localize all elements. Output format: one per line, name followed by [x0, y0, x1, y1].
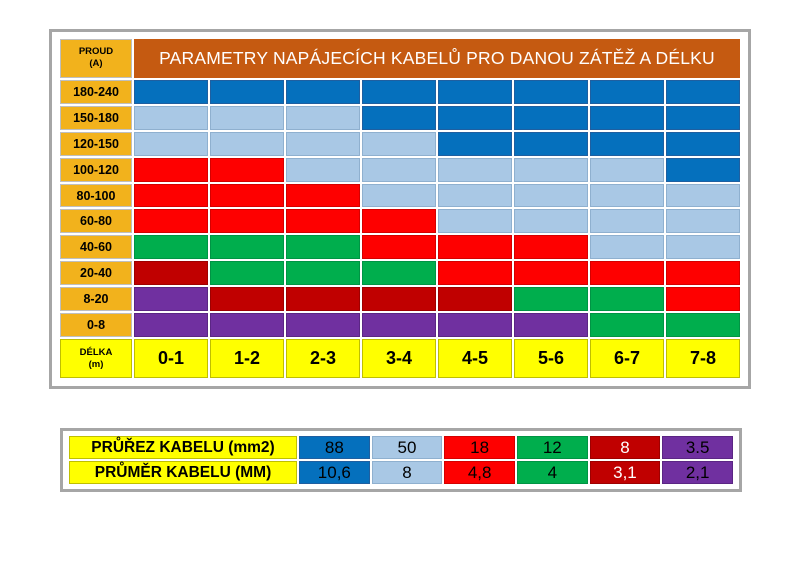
heatmap-cell	[590, 209, 664, 233]
heatmap-cell	[590, 287, 664, 311]
heatmap-cell	[666, 106, 740, 130]
table-row: 60-80	[60, 209, 740, 233]
heatmap-cell	[362, 106, 436, 130]
heatmap-cell	[666, 158, 740, 182]
legend-value-cell: 8	[590, 436, 661, 459]
heatmap-cell	[590, 235, 664, 259]
heatmap-cell	[666, 235, 740, 259]
current-range-label: 150-180	[60, 106, 132, 130]
length-header-cell: DÉLKA(m)	[60, 339, 132, 378]
heatmap-cell	[286, 106, 360, 130]
current-range-label: 60-80	[60, 209, 132, 233]
heatmap-cell	[134, 261, 208, 285]
heatmap-cell	[362, 184, 436, 208]
length-range-label: 0-1	[134, 339, 208, 378]
heatmap-cell	[210, 313, 284, 337]
heatmap-cell	[134, 184, 208, 208]
heatmap-cell	[438, 209, 512, 233]
heatmap-cell	[362, 235, 436, 259]
legend-row: PRŮMĚR KABELU (MM)10,684,843,12,1	[69, 461, 733, 484]
current-range-label: 0-8	[60, 313, 132, 337]
heatmap-cell	[514, 184, 588, 208]
heatmap-cell	[362, 261, 436, 285]
heatmap-cell	[210, 235, 284, 259]
cable-size-legend: PRŮŘEZ KABELU (mm2)8850181283.5PRŮMĚR KA…	[60, 428, 742, 492]
page-title: PARAMETRY NAPÁJECÍCH KABELŮ PRO DANOU ZÁ…	[134, 39, 740, 78]
table-row: 20-40	[60, 261, 740, 285]
legend-value-cell: 88	[299, 436, 370, 459]
heatmap-cell	[590, 158, 664, 182]
heatmap-cell	[590, 261, 664, 285]
heatmap-cell	[210, 184, 284, 208]
length-range-label: 5-6	[514, 339, 588, 378]
heatmap-cell	[286, 184, 360, 208]
table-row: 80-100	[60, 184, 740, 208]
heatmap-cell	[590, 184, 664, 208]
legend-value-cell: 3,1	[590, 461, 661, 484]
heatmap-cell	[666, 261, 740, 285]
heatmap-cell	[514, 313, 588, 337]
heatmap-cell	[438, 287, 512, 311]
heatmap-cell	[286, 261, 360, 285]
heatmap-cell	[590, 106, 664, 130]
legend-row-label: PRŮMĚR KABELU (MM)	[69, 461, 297, 484]
table-footer-row: DÉLKA(m)0-11-22-33-44-55-66-77-8	[60, 339, 740, 378]
length-range-label: 1-2	[210, 339, 284, 378]
table-row: 8-20	[60, 287, 740, 311]
heatmap-cell	[134, 158, 208, 182]
heatmap-cell	[286, 235, 360, 259]
heatmap-cell	[286, 287, 360, 311]
table-row: 150-180	[60, 106, 740, 130]
cable-parameters-chart: PROUD (A) PARAMETRY NAPÁJECÍCH KABELŮ PR…	[49, 29, 751, 389]
current-range-label: 80-100	[60, 184, 132, 208]
heatmap-cell	[666, 184, 740, 208]
current-range-label: 180-240	[60, 80, 132, 104]
legend-body: PRŮŘEZ KABELU (mm2)8850181283.5PRŮMĚR KA…	[69, 436, 733, 484]
heatmap-cell	[514, 158, 588, 182]
heatmap-cell	[438, 106, 512, 130]
heatmap-cell	[286, 313, 360, 337]
cable-parameters-table: PROUD (A) PARAMETRY NAPÁJECÍCH KABELŮ PR…	[58, 37, 742, 380]
length-range-label: 3-4	[362, 339, 436, 378]
heatmap-cell	[362, 132, 436, 156]
heatmap-cell	[590, 132, 664, 156]
heatmap-cell	[210, 106, 284, 130]
table-header-row: PROUD (A) PARAMETRY NAPÁJECÍCH KABELŮ PR…	[60, 39, 740, 78]
table-row: 180-240	[60, 80, 740, 104]
heatmap-cell	[590, 313, 664, 337]
heatmap-cell	[666, 313, 740, 337]
legend-value-cell: 18	[444, 436, 515, 459]
heatmap-cell	[514, 80, 588, 104]
current-range-label: 120-150	[60, 132, 132, 156]
heatmap-cell	[134, 287, 208, 311]
heatmap-cell	[134, 106, 208, 130]
current-header-unit: (A)	[61, 58, 131, 70]
heatmap-cell	[134, 235, 208, 259]
legend-value-cell: 4,8	[444, 461, 515, 484]
current-range-label: 40-60	[60, 235, 132, 259]
current-range-label: 20-40	[60, 261, 132, 285]
heatmap-cell	[362, 158, 436, 182]
table-row: 0-8	[60, 313, 740, 337]
legend-row: PRŮŘEZ KABELU (mm2)8850181283.5	[69, 436, 733, 459]
heatmap-cell	[362, 209, 436, 233]
heatmap-cell	[666, 209, 740, 233]
legend-value-cell: 3.5	[662, 436, 733, 459]
heatmap-cell	[514, 106, 588, 130]
heatmap-cell	[438, 158, 512, 182]
heatmap-cell	[210, 80, 284, 104]
heatmap-cell	[590, 80, 664, 104]
legend-value-cell: 50	[372, 436, 443, 459]
table-row: 120-150	[60, 132, 740, 156]
heatmap-cell	[514, 132, 588, 156]
length-range-label: 4-5	[438, 339, 512, 378]
heatmap-cell	[286, 132, 360, 156]
heatmap-cell	[134, 80, 208, 104]
heatmap-cell	[286, 209, 360, 233]
length-range-label: 2-3	[286, 339, 360, 378]
table-row: 40-60	[60, 235, 740, 259]
heatmap-cell	[514, 261, 588, 285]
table-body: PROUD (A) PARAMETRY NAPÁJECÍCH KABELŮ PR…	[60, 39, 740, 378]
current-header-cell: PROUD (A)	[60, 39, 132, 78]
heatmap-cell	[362, 287, 436, 311]
heatmap-cell	[666, 80, 740, 104]
heatmap-cell	[514, 287, 588, 311]
current-header-label: PROUD	[61, 46, 131, 58]
heatmap-cell	[134, 313, 208, 337]
heatmap-cell	[666, 287, 740, 311]
heatmap-cell	[362, 80, 436, 104]
heatmap-cell	[438, 132, 512, 156]
legend-row-label: PRŮŘEZ KABELU (mm2)	[69, 436, 297, 459]
heatmap-cell	[134, 209, 208, 233]
heatmap-cell	[134, 132, 208, 156]
heatmap-cell	[286, 80, 360, 104]
heatmap-cell	[438, 235, 512, 259]
heatmap-cell	[286, 158, 360, 182]
length-range-label: 7-8	[666, 339, 740, 378]
length-header-unit: (m)	[61, 359, 131, 371]
heatmap-cell	[666, 132, 740, 156]
heatmap-cell	[210, 261, 284, 285]
heatmap-cell	[210, 287, 284, 311]
heatmap-cell	[438, 80, 512, 104]
length-range-label: 6-7	[590, 339, 664, 378]
heatmap-cell	[210, 209, 284, 233]
table-row: 100-120	[60, 158, 740, 182]
heatmap-cell	[514, 209, 588, 233]
current-range-label: 8-20	[60, 287, 132, 311]
legend-value-cell: 8	[372, 461, 443, 484]
current-range-label: 100-120	[60, 158, 132, 182]
heatmap-cell	[210, 158, 284, 182]
length-header-label: DÉLKA	[61, 347, 131, 359]
heatmap-cell	[438, 313, 512, 337]
heatmap-cell	[362, 313, 436, 337]
heatmap-cell	[210, 132, 284, 156]
legend-value-cell: 4	[517, 461, 588, 484]
heatmap-cell	[514, 235, 588, 259]
legend-value-cell: 10,6	[299, 461, 370, 484]
heatmap-cell	[438, 184, 512, 208]
legend-value-cell: 2,1	[662, 461, 733, 484]
legend-table: PRŮŘEZ KABELU (mm2)8850181283.5PRŮMĚR KA…	[67, 434, 735, 486]
legend-value-cell: 12	[517, 436, 588, 459]
heatmap-cell	[438, 261, 512, 285]
